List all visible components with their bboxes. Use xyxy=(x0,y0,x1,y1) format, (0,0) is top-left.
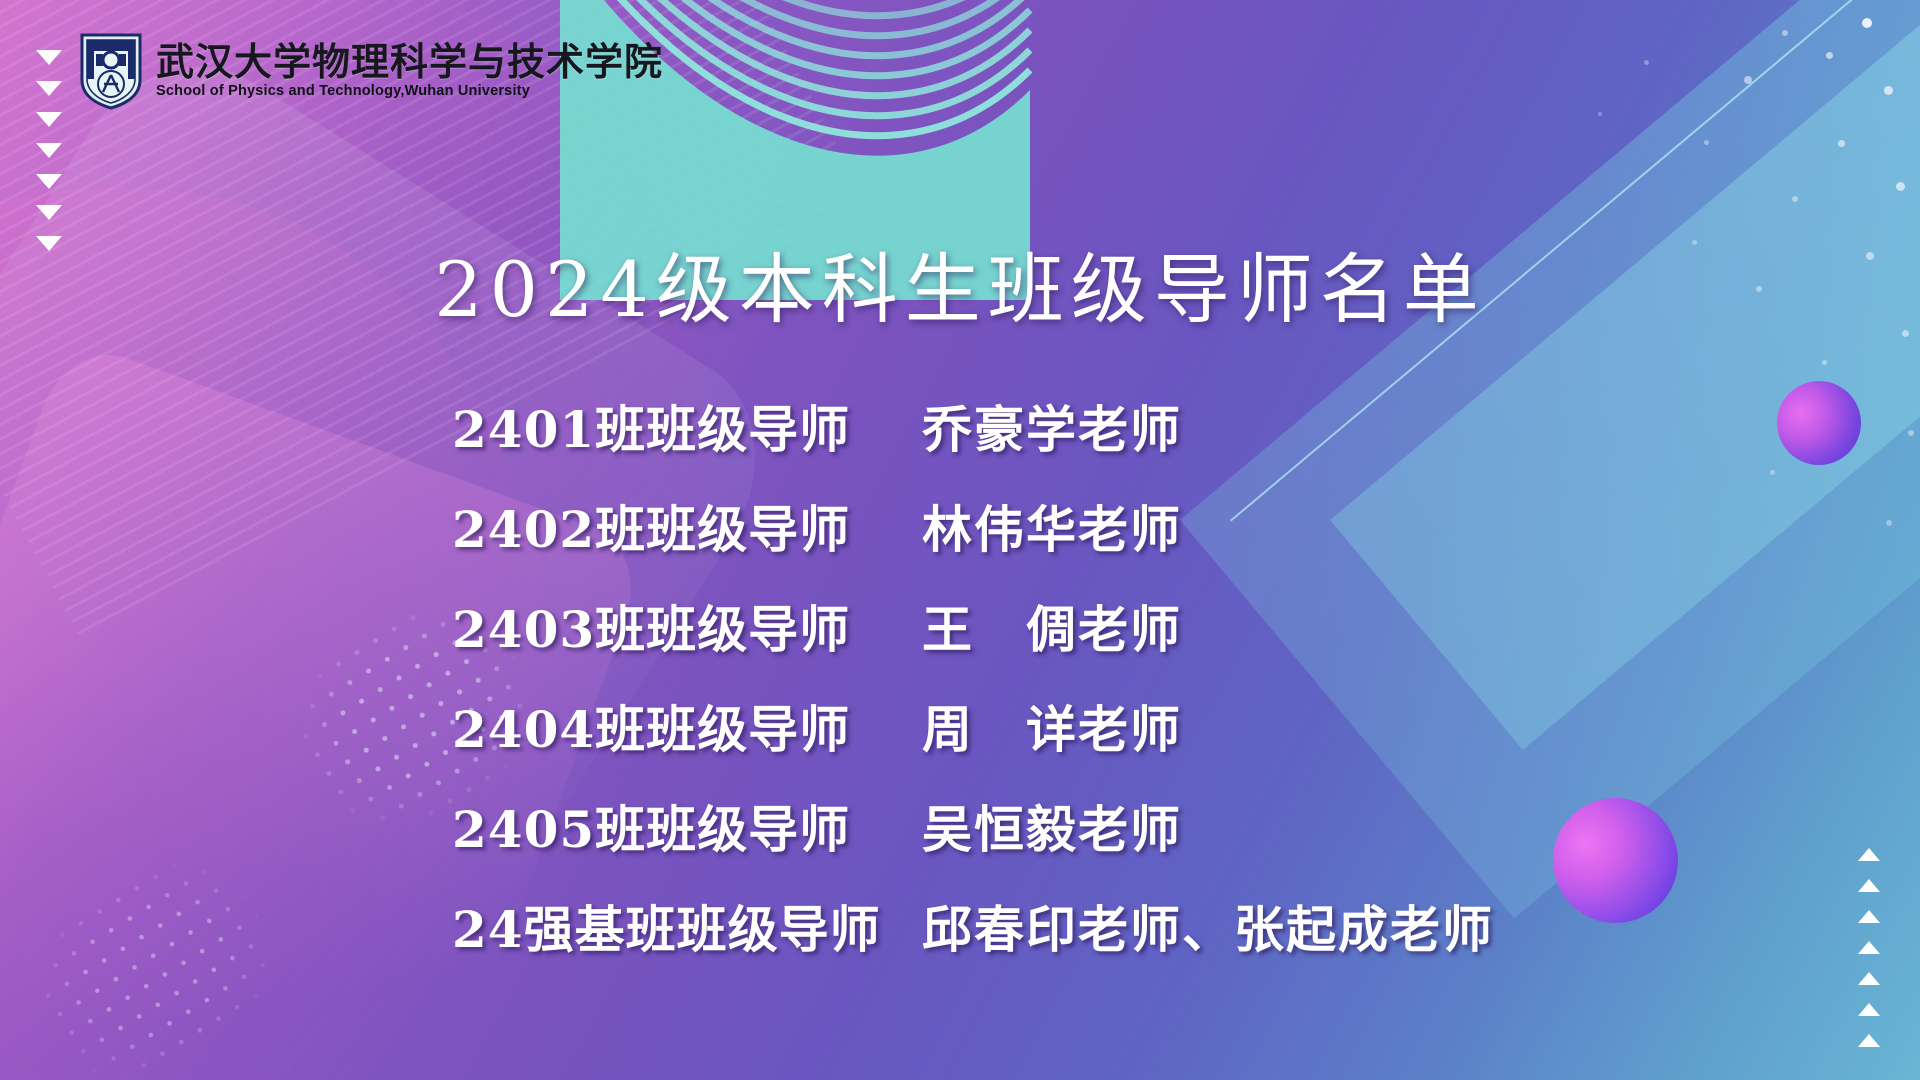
triangle-up-icon xyxy=(1858,848,1880,861)
roster-row: 24强基班班级导师 邱春印老师、张起成老师 xyxy=(452,890,1494,990)
triangle-up-icon xyxy=(1858,910,1880,923)
triangle-up-icon xyxy=(1858,941,1880,954)
triangle-down-icon xyxy=(36,174,62,189)
class-label: 24强基班班级导师 xyxy=(452,890,922,962)
roster-row: 2402班班级导师 林伟华老师 xyxy=(452,490,1494,590)
advisor-name: 乔豪学老师 xyxy=(922,390,1182,462)
advisor-name: 王 倜老师 xyxy=(922,590,1182,662)
institution-name-block: 武汉大学物理科学与技术学院 School of Physics and Tech… xyxy=(156,43,663,99)
gradient-sphere-icon-small xyxy=(1777,381,1861,465)
roster-row: 2403班班级导师 王 倜老师 xyxy=(452,590,1494,690)
wuhan-university-physics-crest-icon xyxy=(78,32,144,110)
institution-name-en: School of Physics and Technology,Wuhan U… xyxy=(156,83,663,99)
triangle-down-icon xyxy=(36,205,62,220)
class-label: 2403班班级导师 xyxy=(452,590,922,662)
institution-name-cn: 武汉大学物理科学与技术学院 xyxy=(156,43,663,82)
triangle-down-icon xyxy=(36,50,62,65)
advisor-name: 周 详老师 xyxy=(922,690,1182,762)
roster-row: 2405班班级导师 吴恒毅老师 xyxy=(452,790,1494,890)
advisor-name: 吴恒毅老师 xyxy=(922,790,1182,862)
advisor-name: 邱春印老师、张起成老师 xyxy=(922,890,1494,962)
class-label: 2405班班级导师 xyxy=(452,790,922,862)
dot-grid-icon-secondary xyxy=(10,833,300,1080)
roster-row: 2401班班级导师 乔豪学老师 xyxy=(452,390,1494,490)
triangle-up-icon xyxy=(1858,879,1880,892)
class-label: 2404班班级导师 xyxy=(452,690,922,762)
triangle-up-icon xyxy=(1858,972,1880,985)
gradient-sphere-icon-large xyxy=(1553,798,1678,923)
advisor-name: 林伟华老师 xyxy=(922,490,1182,562)
triangle-down-icon-column xyxy=(36,50,62,251)
triangle-up-icon-column xyxy=(1858,848,1880,1047)
class-label: 2402班班级导师 xyxy=(452,490,922,562)
roster-row: 2404班班级导师 周 详老师 xyxy=(452,690,1494,790)
triangle-down-icon xyxy=(36,112,62,127)
class-label: 2401班班级导师 xyxy=(452,390,922,462)
page-title: 2024级本科生班级导师名单 xyxy=(0,228,1920,338)
presentation-slide: 武汉大学物理科学与技术学院 School of Physics and Tech… xyxy=(0,0,1920,1080)
triangle-down-icon xyxy=(36,143,62,158)
triangle-down-icon xyxy=(36,81,62,96)
triangle-up-icon xyxy=(1858,1003,1880,1016)
triangle-up-icon xyxy=(1858,1034,1880,1047)
advisor-roster-list: 2401班班级导师 乔豪学老师 2402班班级导师 林伟华老师 2403班班级导… xyxy=(452,390,1494,990)
institution-logo-block: 武汉大学物理科学与技术学院 School of Physics and Tech… xyxy=(78,32,663,110)
